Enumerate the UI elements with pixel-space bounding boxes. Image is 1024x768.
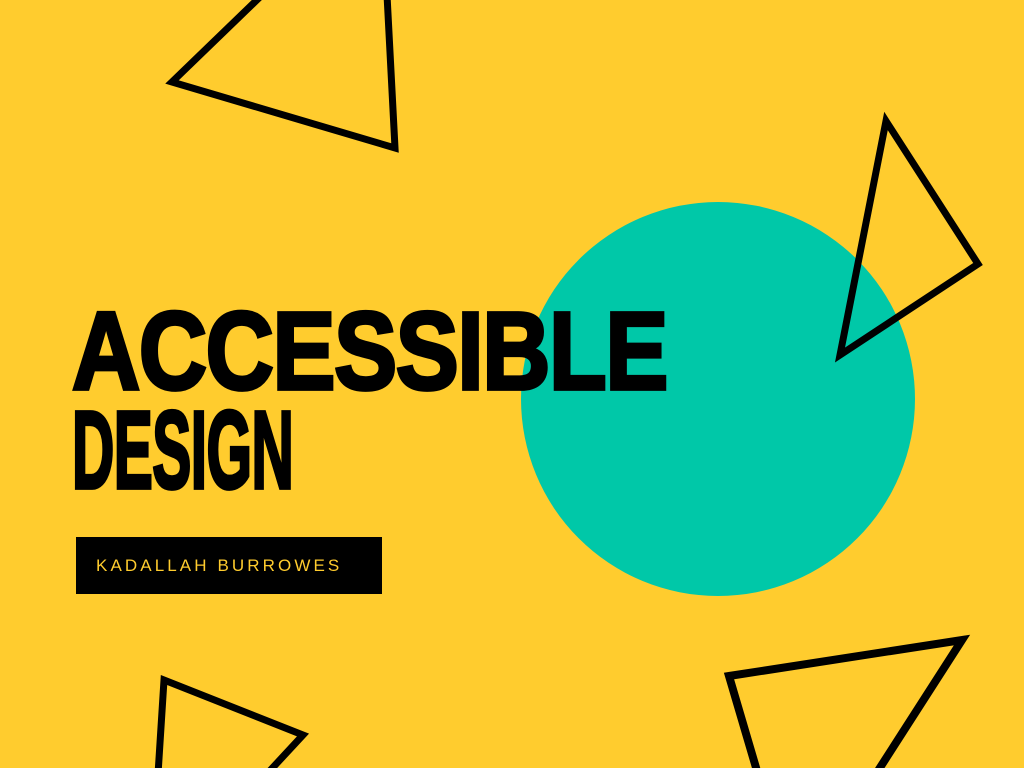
triangle-bottom-right-icon [729,640,962,768]
triangle-top-left-icon [172,0,395,148]
triangle-bottom-left-icon [150,680,303,768]
presentation-slide: ACCESSIBLE DESIGN KADALLAH BURROWES [0,0,1024,768]
slide-title-line-2: DESIGN [72,399,293,504]
author-name-plate: KADALLAH BURROWES [76,537,382,594]
slide-title-block: ACCESSIBLE DESIGN [72,300,832,498]
author-name: KADALLAH BURROWES [96,557,342,574]
